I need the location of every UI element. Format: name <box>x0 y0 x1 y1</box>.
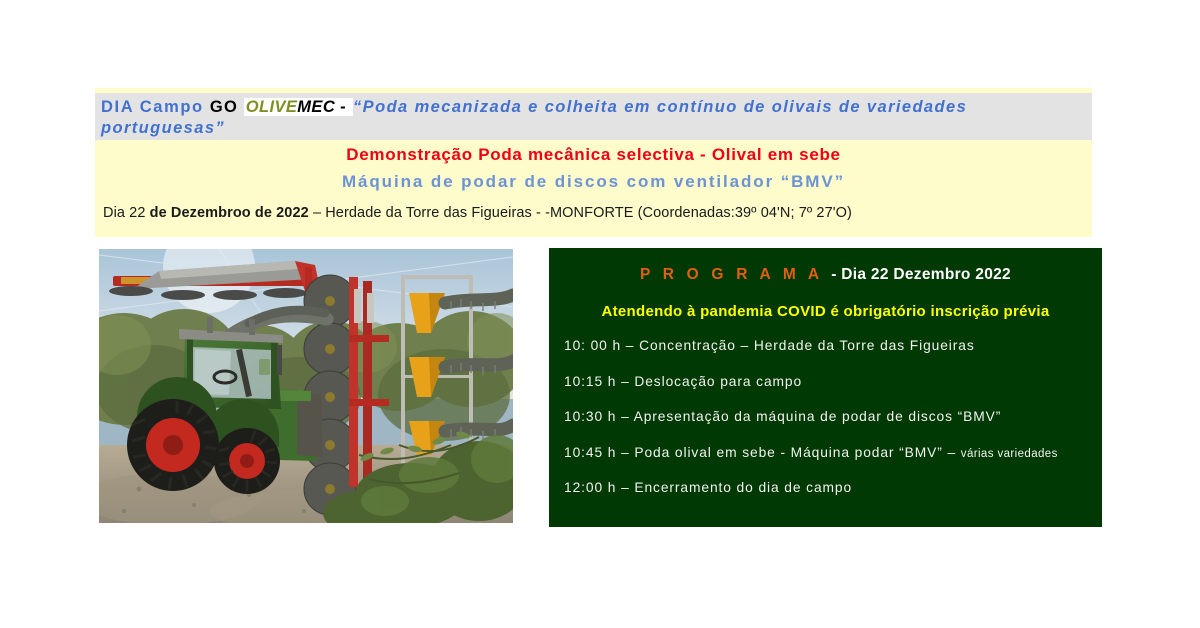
covid-notice: Atendendo à pandemia COVID é obrigatório… <box>549 303 1102 320</box>
tractor-pruning-machine-photo <box>99 249 513 523</box>
schedule-item-text: 10:30 h – Apresentação da máquina de pod… <box>564 409 1001 424</box>
logo-mec-text: MEC <box>297 98 335 116</box>
date-prefix: Dia 22 <box>103 205 150 221</box>
olivemec-logo: OLIVEMEC - <box>244 98 353 116</box>
programa-title: P R O G R A M A - Dia 22 Dezembro 2022 <box>549 266 1102 284</box>
title-dia-campo: DIA Campo <box>101 98 210 116</box>
logo-olive-text: OLIVE <box>246 98 298 116</box>
poster-main-title: DIA Campo GO OLIVEMEC - “Poda mecanizada… <box>101 97 1088 139</box>
schedule-item: 10: 00 h – Concentração – Herdade da Tor… <box>564 338 1102 353</box>
schedule-item: 10:45 h – Poda olival em sebe - Máquina … <box>564 445 1102 460</box>
programa-word: P R O G R A M A <box>640 266 831 283</box>
date-suffix: – Herdade da Torre das Figueiras - -MONF… <box>309 205 852 221</box>
programa-schedule-list: 10: 00 h – Concentração – Herdade da Tor… <box>564 338 1102 516</box>
title-go: GO <box>210 98 244 116</box>
header-panel: DIA Campo GO OLIVEMEC - “Poda mecanizada… <box>95 88 1092 237</box>
event-date-location: Dia 22 de Dezembroo de 2022 – Herdade da… <box>103 205 1088 221</box>
programa-date: - Dia 22 Dezembro 2022 <box>831 266 1011 283</box>
schedule-item-text: 10: 00 h – Concentração – Herdade da Tor… <box>564 338 975 353</box>
demonstration-headline: Demonstração Poda mecânica selectiva - O… <box>95 145 1092 165</box>
title-band: DIA Campo GO OLIVEMEC - “Poda mecanizada… <box>95 93 1092 140</box>
machine-subheadline: Máquina de podar de discos com ventilado… <box>95 172 1092 192</box>
schedule-item-text: 12:00 h – Encerramento do dia de campo <box>564 480 852 495</box>
schedule-item: 10:30 h – Apresentação da máquina de pod… <box>564 409 1102 424</box>
schedule-item-note: várias variedades <box>961 448 1058 460</box>
schedule-item-text: 10:15 h – Deslocação para campo <box>564 374 802 389</box>
programa-box: P R O G R A M A - Dia 22 Dezembro 2022 A… <box>549 248 1102 527</box>
photo-illustration <box>99 249 513 523</box>
schedule-item: 10:15 h – Deslocação para campo <box>564 374 1102 389</box>
date-bold: de Dezembroo de 2022 <box>150 205 309 221</box>
logo-dash: - <box>335 98 351 116</box>
schedule-item-text: 10:45 h – Poda olival em sebe - Máquina … <box>564 445 961 460</box>
schedule-item: 12:00 h – Encerramento do dia de campo <box>564 480 1102 495</box>
